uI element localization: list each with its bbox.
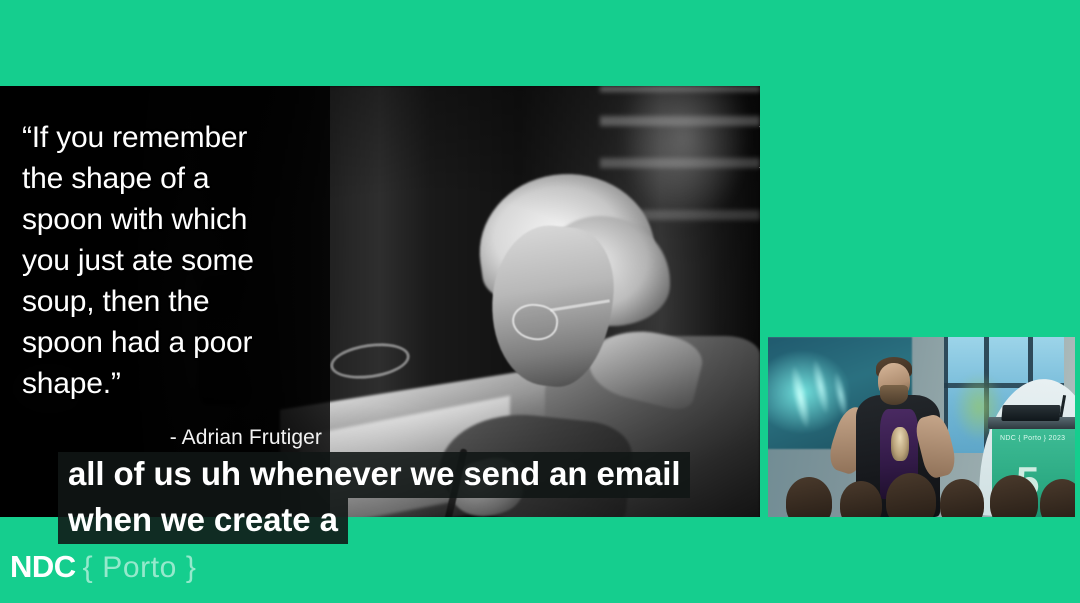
live-caption: all of us uh whenever we send an email w…	[58, 452, 798, 544]
speaker-video-inset[interactable]: NDC { Porto } 2023 5	[768, 333, 1080, 517]
quote-attribution: - Adrian Frutiger	[22, 426, 322, 450]
caption-line-1: all of us uh whenever we send an email	[58, 452, 690, 498]
photo-credit: Photo: Adrian Frutiger – Typefaces: The …	[758, 86, 760, 208]
slide-stage: “If you remember the shape of a spoon wi…	[0, 0, 1080, 603]
audience-row	[768, 465, 1080, 517]
speaker-shirt-print	[891, 427, 909, 461]
podium-ndc-logo: NDC { Porto } 2023	[1000, 435, 1065, 442]
video-border-top	[768, 333, 1080, 337]
ndc-porto-logo: NDC { Porto }	[10, 549, 197, 585]
podium-laptop	[1001, 405, 1060, 421]
ndc-logo-city: { Porto }	[83, 551, 197, 585]
video-border-right	[1075, 333, 1080, 517]
speaker-beard	[880, 385, 908, 405]
quote-text: “If you remember the shape of a spoon wi…	[22, 117, 322, 404]
caption-line-2: when we create a	[58, 498, 348, 544]
ndc-logo-mark: NDC	[10, 549, 76, 585]
